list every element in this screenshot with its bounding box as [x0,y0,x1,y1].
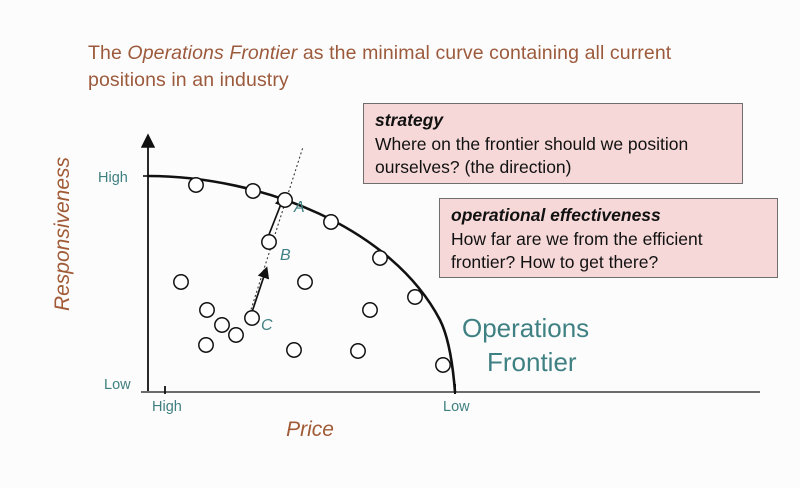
x-axis-title: Price [230,418,390,442]
scatter-point-c [245,311,259,325]
scatter-point [200,303,214,317]
scatter-point [373,251,387,265]
scatter-point [408,290,422,304]
frontier-caption-line-2: Frontier [462,345,589,379]
scatter-point [215,318,229,332]
scatter-point [363,303,377,317]
scatter-point [189,178,203,192]
x-tick-label-low: Low [443,399,470,415]
scatter-point [199,338,213,352]
arrow-c-to-b [252,276,264,312]
frontier-caption: Operations Frontier [462,311,589,379]
scatter-point [298,275,312,289]
point-label-b: B [280,247,291,265]
x-tick-label-high: High [152,399,182,415]
slide-canvas: The Operations Frontier as the minimal c… [0,0,800,488]
callout-operational-effectiveness: operational effectiveness How far are we… [439,198,778,278]
point-label-a: A [294,199,305,217]
y-tick-label-low: Low [104,377,131,393]
scatter-point-a [278,193,292,207]
scatter-point [436,358,450,372]
y-axis-title: Responsiveness [51,129,75,339]
scatter-point [324,215,338,229]
callout-oe-heading: operational effectiveness [451,204,769,228]
scatter-point-b [262,235,276,249]
callout-strategy: strategy Where on the frontier should we… [363,103,743,184]
scatter-point [351,344,365,358]
scatter-point [246,184,260,198]
point-label-c: C [261,317,273,335]
scatter-point [287,343,301,357]
callout-strategy-body: Where on the frontier should we position… [375,133,734,180]
scatter-point [229,328,243,342]
callout-strategy-heading: strategy [375,109,734,133]
scatter-point [174,275,188,289]
callout-oe-body: How far are we from the efficient fronti… [451,228,769,275]
frontier-caption-line-1: Operations [462,313,589,343]
y-tick-label-high: High [98,170,128,186]
direction-dotted-line [247,147,303,322]
